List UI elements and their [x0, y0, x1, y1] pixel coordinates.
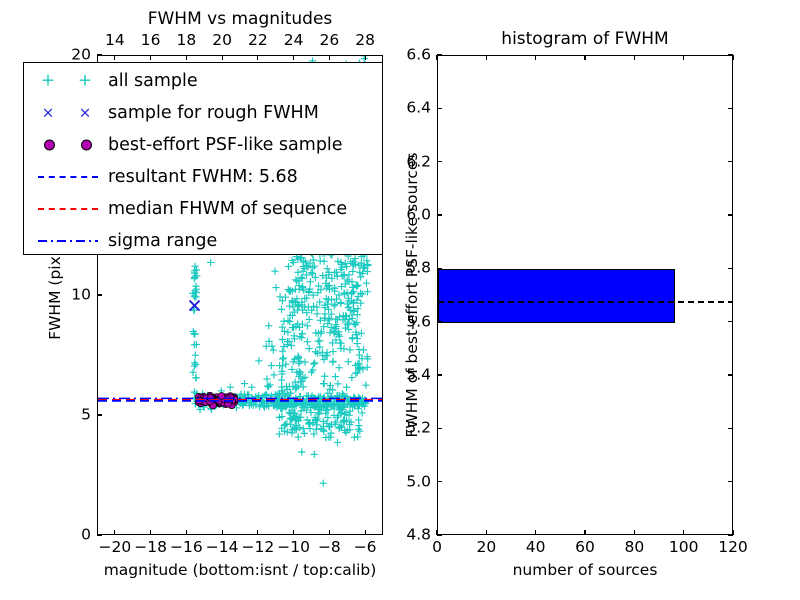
legend-label-4: median FHWM of sequence: [108, 199, 347, 219]
filled-dot-icon: [81, 140, 92, 151]
histogram-axes[interactable]: [437, 55, 733, 535]
x-tick-label: 0: [432, 540, 442, 556]
legend-label-5: sigma range: [108, 231, 217, 251]
filled-dot-icon: [44, 140, 55, 151]
x-tick-label-top: 28: [355, 33, 375, 49]
x-tick-label: 100: [669, 540, 699, 556]
dashed-line-icon: [38, 208, 98, 210]
legend-item-4[interactable]: median FHWM of sequence: [30, 193, 376, 225]
x-tick-label: 40: [526, 540, 546, 556]
x-tick-label: 20: [476, 540, 496, 556]
x-tick-label-top: 18: [177, 33, 197, 49]
x-tick-label: 120: [718, 540, 748, 556]
y-tick-label: 5.0: [389, 474, 431, 490]
x-tick-label-top: 26: [320, 33, 340, 49]
cross-icon: ×: [42, 106, 55, 121]
legend-item-1[interactable]: ××sample for rough FWHM: [30, 97, 376, 129]
histogram-data-layer: [438, 56, 732, 534]
legend-item-0[interactable]: ++all sample: [30, 65, 376, 97]
x-tick-label-bottom: −10: [277, 540, 310, 556]
legend-label-3: resultant FWHM: 5.68: [108, 167, 298, 187]
x-tick-label-top: 14: [105, 33, 125, 49]
resultant-fwhm-line: [438, 301, 732, 303]
legend-key-4: [30, 193, 108, 225]
y-tick-label: 10: [63, 287, 91, 303]
y-tick-label: 6.6: [389, 47, 431, 63]
x-tick-label: 60: [575, 540, 595, 556]
cross-icon: ×: [79, 106, 92, 121]
x-tick-label-bottom: −14: [206, 540, 239, 556]
x-tick-label-top: 22: [248, 33, 268, 49]
legend-key-2: [30, 129, 108, 161]
plus-icon: +: [41, 73, 55, 90]
legend-key-3: [30, 161, 108, 193]
x-tick-label-bottom: −16: [170, 540, 203, 556]
histogram-bar: [438, 269, 675, 322]
x-tick-label-top: 24: [284, 33, 304, 49]
right-panel-xlabel: number of sources: [513, 561, 658, 579]
x-tick-label-top: 20: [212, 33, 232, 49]
y-tick-label: 4.8: [389, 527, 431, 543]
legend-label-2: best-effort PSF-like sample: [108, 135, 343, 155]
legend-key-5: [30, 225, 108, 257]
x-tick-label-bottom: −6: [354, 540, 377, 556]
figure-canvas: −20−18−16−14−12−10−8−6141618202224262805…: [0, 0, 800, 600]
x-tick-label-bottom: −12: [242, 540, 275, 556]
dashdot-line-icon: [38, 234, 98, 248]
legend-label-0: all sample: [108, 71, 198, 91]
legend-key-0: ++: [30, 65, 108, 97]
x-tick-label-bottom: −18: [134, 540, 167, 556]
x-tick-label: 80: [624, 540, 644, 556]
left-panel-title: FWHM vs magnitudes: [148, 9, 333, 29]
legend-key-1: ××: [30, 97, 108, 129]
dashed-line-icon: [38, 176, 98, 178]
x-tick-label-bottom: −20: [99, 540, 132, 556]
right-panel-ylabel: FWHM of best-effort PSF-like sources: [403, 152, 421, 437]
x-tick-label-bottom: −8: [318, 540, 341, 556]
legend-item-5[interactable]: sigma range: [30, 225, 376, 257]
plus-icon: +: [78, 73, 92, 90]
y-tick-label: 20: [63, 47, 91, 63]
legend-label-1: sample for rough FWHM: [108, 103, 319, 123]
y-tick-label: 5: [63, 407, 91, 423]
y-tick-label: 6.4: [389, 101, 431, 117]
x-tick-label-top: 16: [141, 33, 161, 49]
legend-item-3[interactable]: resultant FWHM: 5.68: [30, 161, 376, 193]
left-panel-xlabel: magnitude (bottom:isnt / top:calib): [104, 561, 377, 579]
left-panel-ylabel: FWHM (pix): [46, 250, 64, 340]
y-tick-label: 0: [63, 527, 91, 543]
right-panel-title: histogram of FWHM: [501, 29, 668, 49]
legend-item-2[interactable]: best-effort PSF-like sample: [30, 129, 376, 161]
legend[interactable]: ++all sample××sample for rough FWHMbest-…: [23, 62, 383, 255]
